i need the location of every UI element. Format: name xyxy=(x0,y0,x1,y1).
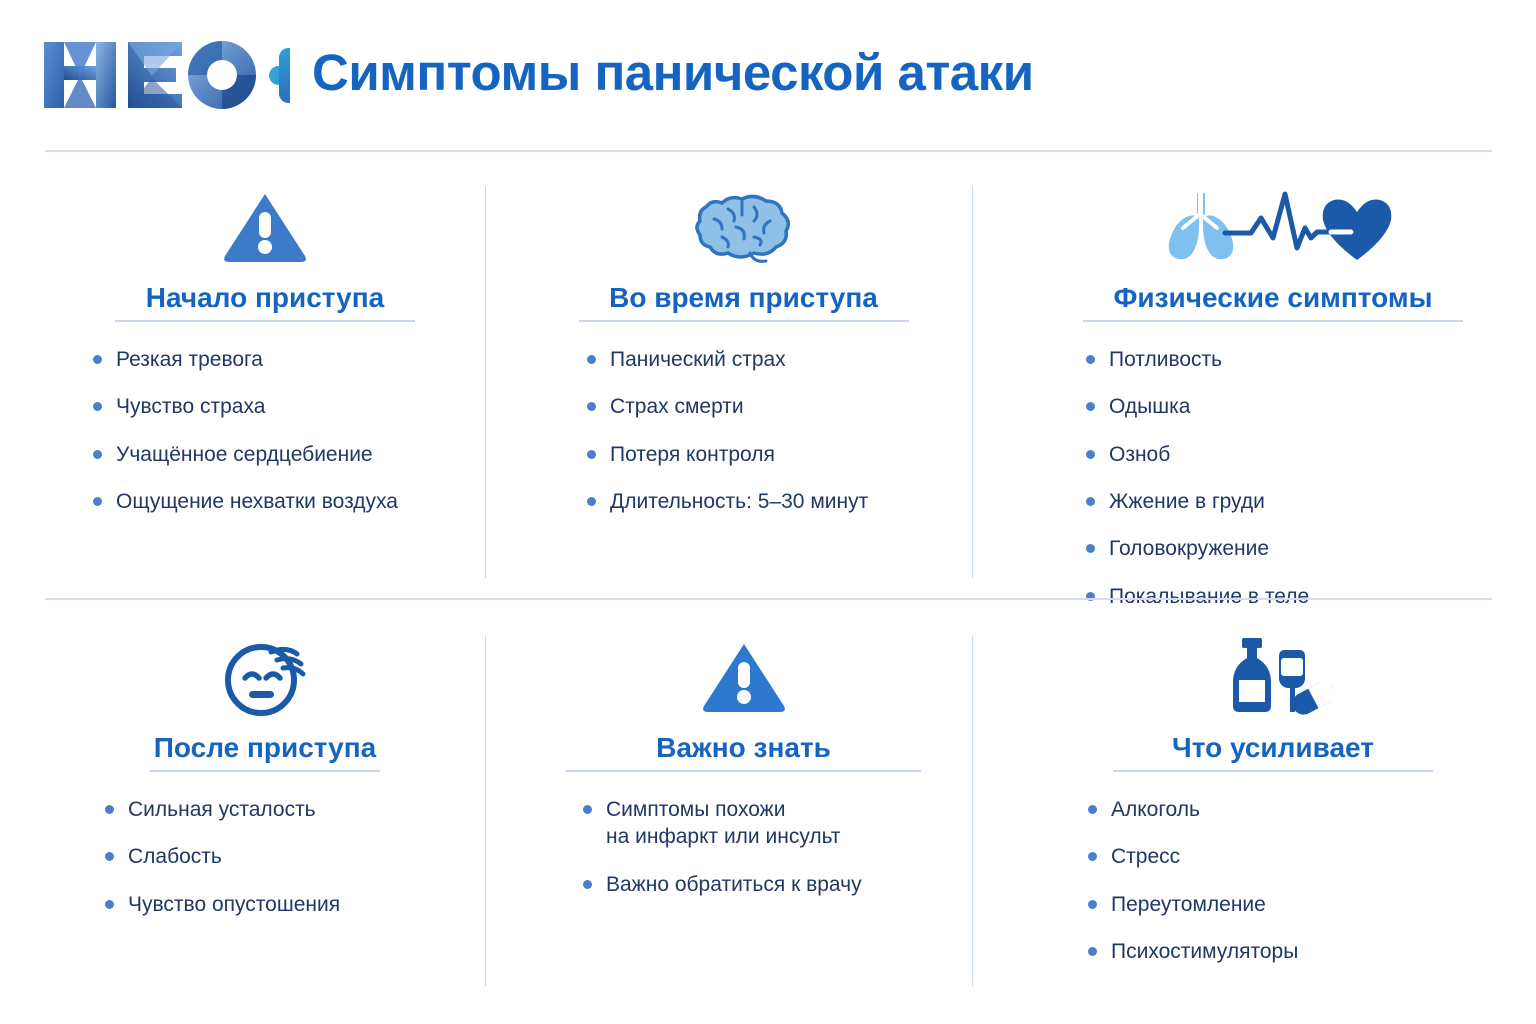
cards-grid: Начало приступа Резкая тревога Чувство с… xyxy=(0,160,1536,1000)
list-item: Озноб xyxy=(1086,441,1536,468)
bullet-dot-icon xyxy=(587,402,596,411)
bullet-dot-icon xyxy=(587,355,596,364)
warning-triangle-icon xyxy=(45,184,485,270)
card-physical-symptoms: Физические симптомы Потливость Одышка xyxy=(972,160,1536,598)
list-item-label: Симптомы похожи на инфаркт или инсульт xyxy=(606,796,841,851)
bullet-dot-icon xyxy=(587,497,596,506)
list-item-label: Одышка xyxy=(1109,393,1190,420)
list-item-label: Жжение в груди xyxy=(1109,488,1265,515)
bullet-dot-icon xyxy=(93,497,102,506)
card-title-underline xyxy=(150,770,380,772)
bullet-dot-icon xyxy=(1086,497,1095,506)
bullet-dot-icon xyxy=(1086,544,1095,553)
card-title: Что усиливает xyxy=(1113,732,1433,764)
list-item: Одышка xyxy=(1086,393,1536,420)
bullet-dot-icon xyxy=(583,805,592,814)
list-item-label: Озноб xyxy=(1109,441,1170,468)
card-title-underline xyxy=(1113,770,1433,772)
list-item: Потливость xyxy=(1086,346,1536,373)
list-item: Переутомление xyxy=(1088,891,1536,918)
card-title: Важно знать xyxy=(566,732,921,764)
bullet-dot-icon xyxy=(1086,355,1095,364)
header-divider xyxy=(45,150,1492,152)
list-item: Учащённое сердцебиение xyxy=(93,441,485,468)
list-item: Страх смерти xyxy=(587,393,972,420)
list-item-label: Страх смерти xyxy=(610,393,744,420)
card-title: После приступа xyxy=(150,732,380,764)
bullet-dot-icon xyxy=(105,852,114,861)
list-item-label: Чувство опустошения xyxy=(128,891,340,918)
list-item-label: Учащённое сердцебиение xyxy=(116,441,373,468)
card-title-underline xyxy=(115,320,415,322)
bullet-dot-icon xyxy=(587,450,596,459)
bullet-dot-icon xyxy=(105,805,114,814)
cards-row-bottom: После приступа Сильная усталость Слабост… xyxy=(0,610,1536,1000)
bullet-dot-icon xyxy=(1086,402,1095,411)
list-item: Головокружение xyxy=(1086,535,1536,562)
bullet-dot-icon xyxy=(1088,947,1097,956)
tired-face-icon xyxy=(45,634,485,720)
bullet-dot-icon xyxy=(93,450,102,459)
neo-plus-logo-icon xyxy=(40,36,290,114)
card-what-worsens: Что усиливает Алкоголь Стресс xyxy=(972,610,1536,1000)
list-item: Чувство опустошения xyxy=(105,891,485,918)
page-title: Симптомы панической атаки xyxy=(312,47,1034,104)
symptom-list: Симптомы похожи на инфаркт или инсульт В… xyxy=(515,796,972,918)
brain-icon xyxy=(515,184,972,270)
list-item: Стресс xyxy=(1088,843,1536,870)
bullet-dot-icon xyxy=(1086,450,1095,459)
list-item-label: Алкоголь xyxy=(1111,796,1200,823)
symptom-list: Потливость Одышка Озноб Жжение в гр xyxy=(1010,346,1536,630)
symptom-list: Алкоголь Стресс Переутомление Психо xyxy=(1010,796,1536,985)
symptom-list: Резкая тревога Чувство страха Учащённое … xyxy=(45,346,485,535)
list-item: Чувство страха xyxy=(93,393,485,420)
bullet-dot-icon xyxy=(1088,805,1097,814)
card-title-underline xyxy=(1083,320,1463,322)
list-item: Ощущение нехватки воздуха xyxy=(93,488,485,515)
symptom-list: Сильная усталость Слабость Чувство опуст… xyxy=(45,796,485,938)
list-item-label: Важно обратиться к врачу xyxy=(606,871,862,898)
list-item: Длительность: 5–30 минут xyxy=(587,488,972,515)
page-header: Симптомы панической атаки xyxy=(0,0,1536,150)
card-start-of-attack: Начало приступа Резкая тревога Чувство с… xyxy=(0,160,485,598)
list-item-label: Чувство страха xyxy=(116,393,265,420)
list-item: Важно обратиться к врачу xyxy=(583,871,972,898)
list-item-label: Потеря контроля xyxy=(610,441,775,468)
bullet-dot-icon xyxy=(1088,852,1097,861)
bullet-dot-icon xyxy=(93,355,102,364)
infographic-page: Симптомы панической атаки xyxy=(0,0,1536,1024)
card-during-attack: Во время приступа Панический страх Страх… xyxy=(485,160,972,598)
bullet-dot-icon xyxy=(93,402,102,411)
card-title-underline xyxy=(566,770,921,772)
list-item-label: Резкая тревога xyxy=(116,346,263,373)
warning-triangle-icon xyxy=(515,634,972,720)
card-title: Начало приступа xyxy=(115,282,415,314)
list-item-label: Слабость xyxy=(128,843,222,870)
list-item-label: Стресс xyxy=(1111,843,1180,870)
list-item-label: Панический страх xyxy=(610,346,786,373)
symptom-list: Панический страх Страх смерти Потеря кон… xyxy=(515,346,972,535)
lungs-ecg-heart-icon xyxy=(1010,184,1536,270)
card-title: Во время приступа xyxy=(579,282,909,314)
card-after-attack: После приступа Сильная усталость Слабост… xyxy=(0,610,485,1000)
list-item-label: Психостимуляторы xyxy=(1111,938,1298,965)
list-item: Психостимуляторы xyxy=(1088,938,1536,965)
list-item-label: Потливость xyxy=(1109,346,1222,373)
list-item: Слабость xyxy=(105,843,485,870)
card-important-to-know: Важно знать Симптомы похожи на инфаркт и… xyxy=(485,610,972,1000)
list-item: Сильная усталость xyxy=(105,796,485,823)
list-item-label: Ощущение нехватки воздуха xyxy=(116,488,398,515)
list-item-label: Головокружение xyxy=(1109,535,1269,562)
list-item: Резкая тревога xyxy=(93,346,485,373)
list-item: Жжение в груди xyxy=(1086,488,1536,515)
list-item: Потеря контроля xyxy=(587,441,972,468)
bullet-dot-icon xyxy=(1088,900,1097,909)
card-title-underline xyxy=(579,320,909,322)
bullet-dot-icon xyxy=(583,880,592,889)
cards-row-top: Начало приступа Резкая тревога Чувство с… xyxy=(0,160,1536,598)
list-item: Покалывание в теле xyxy=(1086,583,1536,610)
card-title: Физические симптомы xyxy=(1083,282,1463,314)
list-item: Алкоголь xyxy=(1088,796,1536,823)
row-divider xyxy=(45,598,1492,600)
bottle-glass-pill-icon xyxy=(1010,634,1536,720)
list-item: Панический страх xyxy=(587,346,972,373)
list-item-label: Длительность: 5–30 минут xyxy=(610,488,868,515)
list-item-label: Сильная усталость xyxy=(128,796,316,823)
list-item-label: Переутомление xyxy=(1111,891,1266,918)
list-item-label: Покалывание в теле xyxy=(1109,583,1309,610)
list-item: Симптомы похожи на инфаркт или инсульт xyxy=(583,796,972,851)
bullet-dot-icon xyxy=(105,900,114,909)
